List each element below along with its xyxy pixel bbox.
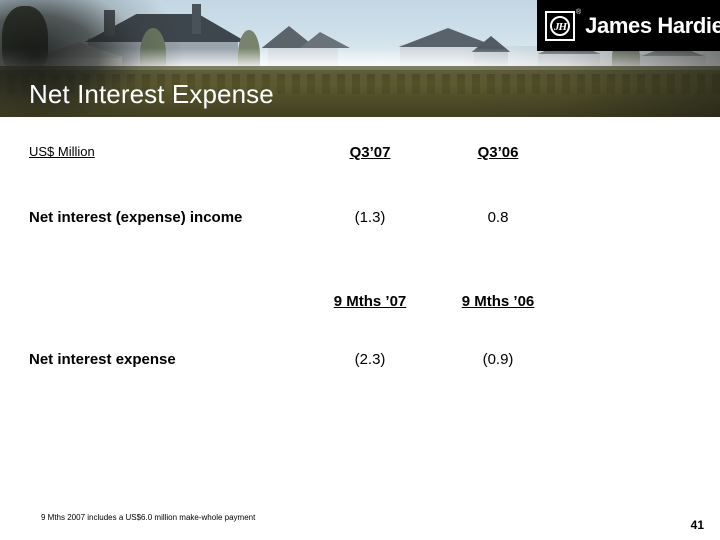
row-label: Net interest (expense) income bbox=[29, 209, 242, 226]
row-value: (0.9) bbox=[428, 351, 568, 368]
footnote: 9 Mths 2007 includes a US$6.0 million ma… bbox=[41, 513, 255, 522]
james-hardie-logo: JH ® James Hardie bbox=[537, 0, 720, 51]
column-header: Q3’06 bbox=[428, 144, 568, 161]
page-title: Net Interest Expense bbox=[29, 79, 274, 110]
table-row: Net interest (expense) income (1.3) 0.8 bbox=[0, 209, 720, 235]
table-header-row: 9 Mths ’07 9 Mths ’06 bbox=[0, 293, 720, 319]
row-label: Net interest expense bbox=[29, 351, 176, 368]
row-value: (1.3) bbox=[300, 209, 440, 226]
table-row: Net interest expense (2.3) (0.9) bbox=[0, 351, 720, 377]
unit-label: US$ Million bbox=[29, 144, 95, 159]
jh-monogram-icon: JH bbox=[545, 11, 575, 41]
page-number: 41 bbox=[691, 518, 704, 532]
row-value: 0.8 bbox=[428, 209, 568, 226]
column-header-label: 9 Mths ’07 bbox=[334, 293, 407, 310]
brand-name: James Hardie bbox=[585, 13, 720, 39]
registered-trademark-icon: ® bbox=[576, 9, 581, 16]
slide: JH ® James Hardie Net Interest Expense U… bbox=[0, 0, 720, 540]
column-header: 9 Mths ’07 bbox=[300, 293, 440, 310]
table-header-row: US$ Million Q3’07 Q3’06 bbox=[0, 144, 720, 170]
jh-monogram-text: JH bbox=[550, 16, 570, 36]
column-header-label: Q3’06 bbox=[478, 144, 519, 161]
column-header: 9 Mths ’06 bbox=[428, 293, 568, 310]
shadow-right bbox=[460, 46, 720, 117]
column-header: Q3’07 bbox=[300, 144, 440, 161]
column-header-label: 9 Mths ’06 bbox=[462, 293, 535, 310]
row-value: (2.3) bbox=[300, 351, 440, 368]
column-header-label: Q3’07 bbox=[350, 144, 391, 161]
